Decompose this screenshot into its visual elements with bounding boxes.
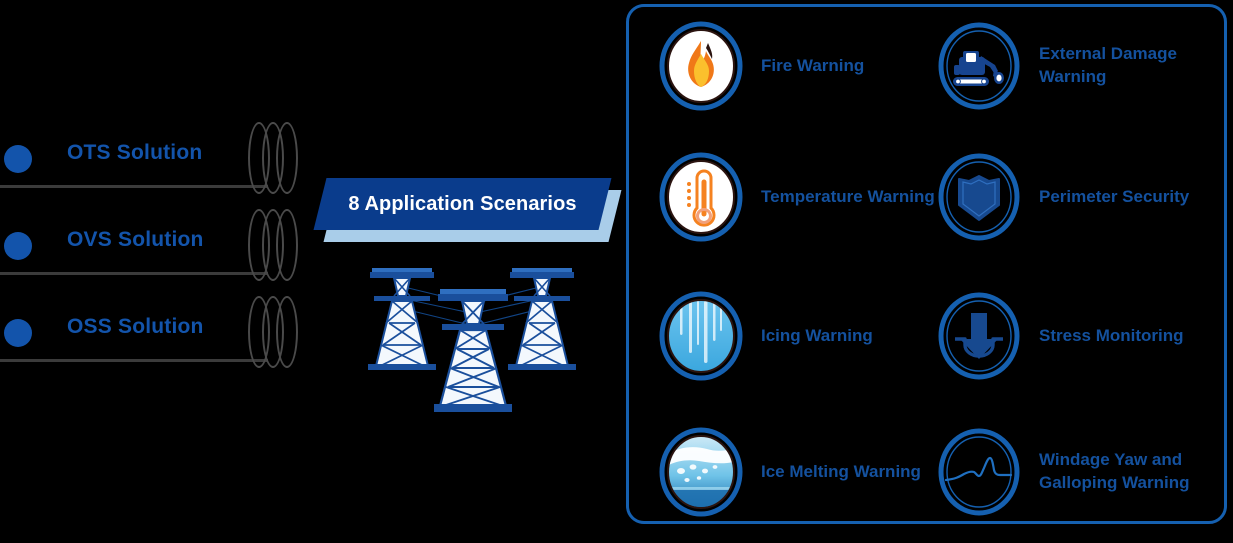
scenario-temperature-warning[interactable]: Temperature Warning [641, 140, 931, 268]
banner-title: 8 Application Scenarios [320, 178, 605, 230]
excavator-icon [937, 21, 1021, 111]
solution-divider [0, 185, 268, 188]
scenario-label: Stress Monitoring [1039, 279, 1225, 393]
solution-label: OTS Solution [67, 141, 202, 165]
scenario-icing-warning[interactable]: Icing Warning [641, 279, 931, 407]
filled-circle-icon [4, 232, 32, 260]
thermometer-icon [659, 152, 743, 242]
solution-label: OVS Solution [67, 228, 204, 252]
solutions-panel: OTS Solution OVS Solution OSS Solution [0, 0, 320, 530]
fiber-coil-icon [248, 296, 300, 368]
scenario-label: Icing Warning [761, 279, 941, 393]
scenario-label: Temperature Warning [761, 140, 941, 254]
scenario-ice-melting-warning[interactable]: Ice Melting Warning [641, 415, 931, 543]
scenario-label: Ice Melting Warning [761, 415, 941, 529]
scenario-label: Perimeter Security [1039, 140, 1225, 254]
solution-divider [0, 359, 268, 362]
solution-row-oss[interactable]: OSS Solution [0, 293, 310, 379]
transmission-towers-icon [348, 250, 598, 422]
solution-row-ovs[interactable]: OVS Solution [0, 206, 310, 292]
solution-label: OSS Solution [67, 315, 204, 339]
shield-icon [937, 152, 1021, 242]
scenario-label: Fire Warning [761, 9, 941, 123]
scenario-fire-warning[interactable]: Fire Warning [641, 9, 931, 137]
melting-ice-icon [659, 427, 743, 517]
fire-icon [659, 21, 743, 111]
filled-circle-icon [4, 319, 32, 347]
scenario-label: Windage Yaw and Galloping Warning [1039, 415, 1225, 529]
center-block: 8 Application Scenarios [320, 0, 620, 530]
solution-divider [0, 272, 268, 275]
scenario-windage-yaw-galloping-warning[interactable]: Windage Yaw and Galloping Warning [919, 415, 1209, 543]
scenario-external-damage-warning[interactable]: External Damage Warning [919, 9, 1209, 137]
icicles-icon [659, 291, 743, 381]
filled-circle-icon [4, 145, 32, 173]
scenario-stress-monitoring[interactable]: Stress Monitoring [919, 279, 1209, 407]
waveform-icon [937, 427, 1021, 517]
down-arrow-load-icon [937, 291, 1021, 381]
fiber-coil-icon [248, 209, 300, 281]
scenario-label: External Damage Warning [1039, 9, 1225, 123]
scenario-perimeter-security[interactable]: Perimeter Security [919, 140, 1209, 268]
solution-row-ots[interactable]: OTS Solution [0, 119, 310, 205]
fiber-coil-icon [248, 122, 300, 194]
application-scenarios-banner: 8 Application Scenarios [320, 178, 620, 250]
scenarios-panel: Fire Warning [626, 4, 1227, 524]
